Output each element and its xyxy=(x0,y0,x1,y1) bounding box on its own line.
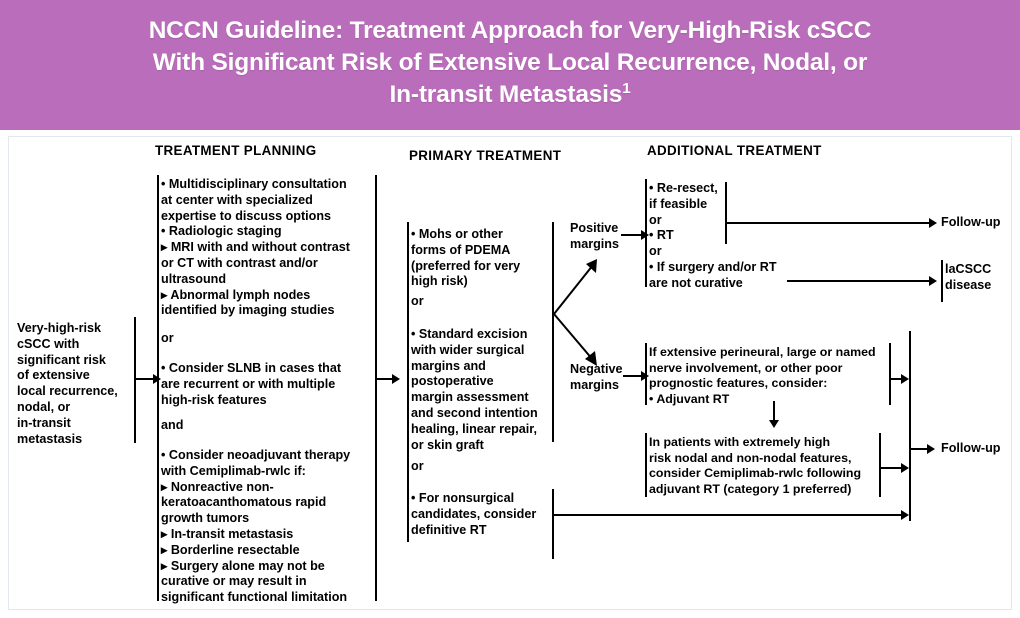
patient-population-text: Very-high-risk cSCC with significant ris… xyxy=(17,321,139,447)
lacscc-arrow xyxy=(929,276,937,286)
title-banner: NCCN Guideline: Treatment Approach for V… xyxy=(0,0,1020,130)
outcome-collector-line xyxy=(909,331,911,521)
population-to-planning-line xyxy=(136,378,154,380)
negative-block2-right-bracket xyxy=(879,433,881,497)
primary-connector-or-2: or xyxy=(411,459,424,475)
additional-negative-block-2: In patients with extremely high risk nod… xyxy=(649,435,899,497)
column-header-treatment-planning: TREATMENT PLANNING xyxy=(155,143,317,158)
additional-negative-block-1: If extensive perineural, large or named … xyxy=(649,345,899,407)
followup-bottom-arrow xyxy=(927,444,935,454)
negative-block1-out-arrow xyxy=(901,374,909,384)
column-header-additional-treatment: ADDITIONAL TREATMENT xyxy=(647,143,822,158)
planning-connector-or-1: or xyxy=(161,331,174,347)
planning-block-3: • Consider neoadjuvant therapy with Cemi… xyxy=(161,448,377,606)
negative-block2-out-line xyxy=(881,467,903,469)
flowchart-figure: TREATMENT PLANNING PRIMARY TREATMENT ADD… xyxy=(8,136,1012,610)
planning-to-primary-arrow xyxy=(392,374,400,384)
column-header-primary-treatment: PRIMARY TREATMENT xyxy=(409,148,561,163)
positive-block-right-bracket xyxy=(725,182,727,244)
primary-left-bracket xyxy=(407,222,409,542)
planning-left-bracket xyxy=(157,175,159,601)
positive-block-left-bracket xyxy=(645,179,647,287)
primary-block-3: • For nonsurgical candidates, consider d… xyxy=(411,491,557,538)
negative-block2-out-arrow xyxy=(901,463,909,473)
negative-block1-right-bracket xyxy=(889,343,891,405)
followup-top-line xyxy=(727,222,931,224)
additional-positive-block: • Re-resect, if feasible or • RT or • If… xyxy=(649,181,831,292)
followup-top-arrow xyxy=(929,218,937,228)
primary-block-2: • Standard excision with wider surgical … xyxy=(411,327,557,453)
lacscc-label: laCSCC disease xyxy=(945,262,1015,294)
planning-connector-and: and xyxy=(161,418,183,434)
positive-margins-line xyxy=(621,234,643,236)
positive-margins-label: Positive margins xyxy=(570,221,642,253)
population-bracket xyxy=(134,317,136,443)
lacscc-bracket xyxy=(941,260,943,302)
followup-top-label: Follow-up xyxy=(941,215,1000,231)
negative-block2-left-bracket xyxy=(645,433,647,497)
page-title: NCCN Guideline: Treatment Approach for V… xyxy=(149,15,872,111)
negative-blocks-connector-line xyxy=(773,401,775,421)
primary-nonsurgical-bracket xyxy=(552,489,554,559)
planning-block-1: • Multidisciplinary consultation at cent… xyxy=(161,177,373,319)
primary-connector-or-1: or xyxy=(411,294,424,310)
planning-block-2: • Consider SLNB in cases that are recurr… xyxy=(161,361,373,408)
planning-right-bracket xyxy=(375,175,377,601)
negative-block1-left-bracket xyxy=(645,343,647,405)
primary-block-1: • Mohs or other forms of PDEMA (preferre… xyxy=(411,227,553,290)
followup-bottom-label: Follow-up xyxy=(941,441,1000,457)
lacscc-line xyxy=(787,280,931,282)
negative-margins-line xyxy=(623,375,643,377)
negative-blocks-connector-arrow xyxy=(769,420,779,428)
nonsurgical-to-collector-arrow xyxy=(901,510,909,520)
nonsurgical-to-collector-line xyxy=(554,514,903,516)
planning-to-primary-line xyxy=(377,378,393,380)
negative-margins-label: Negative margins xyxy=(570,362,642,394)
